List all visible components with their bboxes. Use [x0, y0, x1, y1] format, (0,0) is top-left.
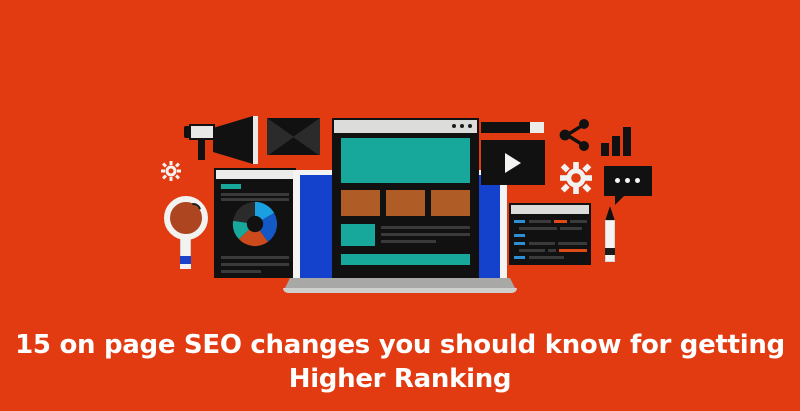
code-token: [529, 242, 555, 245]
seo-banner: 15 on page SEO changes you should know f…: [0, 0, 800, 411]
bar-chart-bar: [612, 136, 620, 156]
code-token: [570, 220, 587, 223]
document-text-line: [221, 256, 289, 259]
pen-grip: [605, 248, 615, 255]
banner-headline: 15 on page SEO changes you should know f…: [0, 312, 800, 411]
browser-thumbnail: [341, 224, 375, 246]
chat-dot: [635, 178, 640, 183]
magnifier-tip: [180, 264, 191, 269]
code-token: [519, 249, 545, 252]
browser-hero-block: [341, 138, 470, 183]
browser-card: [431, 190, 470, 216]
megaphone-icon: [213, 108, 261, 172]
search-button: [530, 122, 544, 133]
gear-small-icon: [161, 161, 181, 181]
share-icon: [558, 118, 592, 152]
code-token: [519, 227, 557, 230]
seo-illustration: [0, 0, 800, 312]
browser-text-line: [381, 226, 470, 229]
code-token: [548, 249, 556, 252]
bar-chart-icon: [601, 143, 609, 156]
browser-card: [386, 190, 425, 216]
code-token: [558, 242, 587, 245]
play-icon: [505, 153, 521, 173]
headline-line-1: 15 on page SEO changes you should know f…: [15, 328, 785, 362]
code-token: [554, 220, 567, 223]
browser-card: [341, 190, 380, 216]
code-token: [529, 256, 564, 259]
browser-dot: [460, 124, 464, 128]
headline-line-2: Higher Ranking: [289, 362, 512, 396]
chat-dot: [615, 178, 620, 183]
pen-icon: [605, 220, 615, 262]
code-token: [560, 227, 582, 230]
document-header-bar: [216, 170, 294, 179]
code-token: [514, 242, 525, 245]
document-text-line: [221, 270, 261, 273]
bar-chart-bar: [623, 127, 631, 156]
megaphone-stem: [198, 140, 205, 160]
code-token: [514, 220, 525, 223]
code-token: [559, 249, 587, 252]
envelope-flap-left: [267, 118, 294, 155]
magnifier-band: [180, 256, 191, 264]
megaphone-body: [189, 124, 215, 140]
envelope-icon: [267, 118, 320, 155]
chat-bubble-tail: [615, 196, 624, 205]
laptop-base-edge: [283, 288, 517, 293]
gear-large-icon: [560, 162, 592, 194]
code-token: [514, 234, 525, 237]
code-window-titlebar: [511, 205, 589, 214]
code-token: [514, 256, 525, 259]
document-text-line: [221, 193, 289, 196]
document-tag: [221, 184, 241, 189]
pen-nib: [605, 206, 615, 221]
browser-footer-block: [341, 254, 470, 265]
browser-dot: [468, 124, 472, 128]
donut-chart: [231, 200, 279, 248]
browser-text-line: [381, 233, 470, 236]
browser-text-line: [381, 240, 436, 243]
envelope-flap-right: [293, 118, 320, 155]
browser-dot: [452, 124, 456, 128]
chat-dot: [625, 178, 630, 183]
magnifier-icon: [164, 196, 208, 240]
code-token: [529, 220, 551, 223]
document-text-line: [221, 263, 289, 266]
